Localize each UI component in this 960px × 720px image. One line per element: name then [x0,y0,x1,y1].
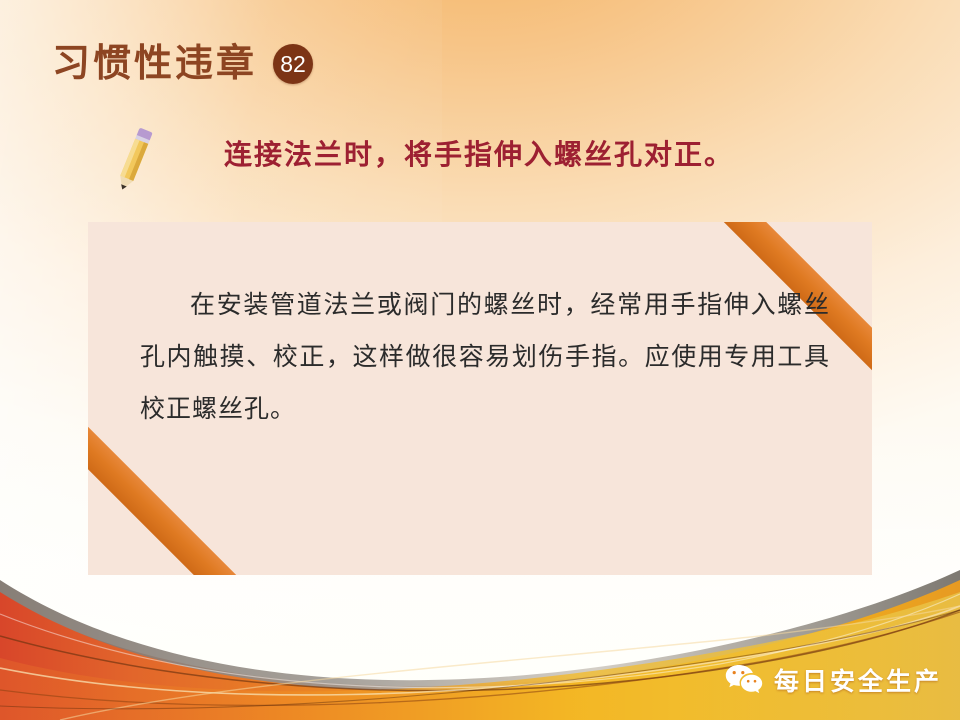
watermark-label: 每日安全生产 [774,662,942,698]
slide-subtitle: 连接法兰时，将手指伸入螺丝孔对正。 [224,133,734,173]
wechat-icon [724,663,764,697]
content-panel: 在安装管道法兰或阀门的螺丝时，经常用手指伸入螺丝孔内触摸、校正，这样做很容易划伤… [88,222,872,575]
slide-header: 习惯性违章 82 [52,44,313,84]
body-paragraph: 在安装管道法兰或阀门的螺丝时，经常用手指伸入螺丝孔内触摸、校正，这样做很容易划伤… [140,280,830,436]
page-number-badge: 82 [273,44,313,84]
watermark: 每日安全生产 [724,662,942,698]
page-title: 习惯性违章 [52,45,257,83]
pencil-icon [104,122,166,194]
slide-canvas: 习惯性违章 82 连接法兰时，将手指伸入螺丝孔对正。 在安装管道法兰或阀门的螺丝… [0,0,960,720]
